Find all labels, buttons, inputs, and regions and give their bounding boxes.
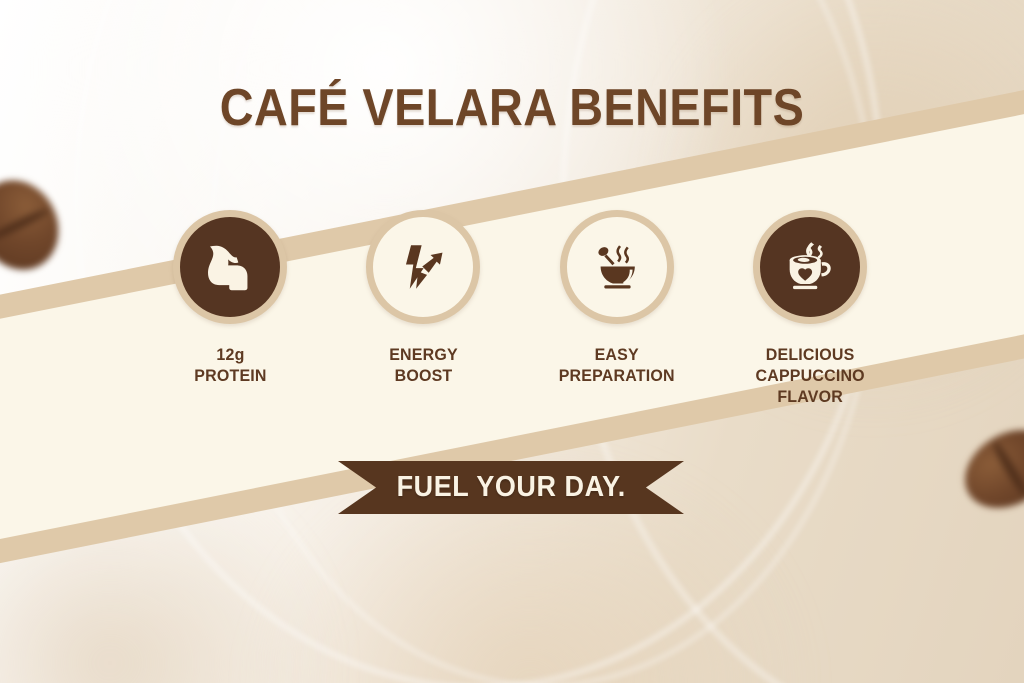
benefit-item-energy[interactable]: ENERGY BOOST: [343, 210, 503, 386]
cappuccino-heart-cup-icon: [779, 236, 841, 298]
benefit-label: 12g PROTEIN: [194, 344, 266, 386]
benefit-icon-badge: [753, 210, 867, 324]
benefit-item-flavor[interactable]: DELICIOUS CAPPUCCINO FLAVOR: [730, 210, 890, 407]
steaming-cup-spoon-icon: [587, 237, 647, 297]
benefit-label: ENERGY BOOST: [389, 344, 458, 386]
benefit-item-preparation[interactable]: EASY PREPARATION: [537, 210, 697, 386]
benefit-item-protein[interactable]: 12g PROTEIN: [150, 210, 310, 386]
benefit-icon-badge: [366, 210, 480, 324]
tagline-ribbon: FUEL YOUR DAY.: [338, 461, 684, 514]
page-title: CAFÉ VELARA BENEFITS: [51, 78, 973, 138]
benefit-label: EASY PREPARATION: [559, 344, 675, 386]
benefit-icon-badge: [173, 210, 287, 324]
flexed-bicep-icon: [199, 236, 261, 298]
poster-canvas: CAFÉ VELARA BENEFITS 12g PROTEIN: [0, 0, 1024, 683]
benefit-icon-badge: [560, 210, 674, 324]
tagline-text: FUEL YOUR DAY.: [396, 471, 625, 504]
lightning-bolt-arrow-icon: [394, 238, 452, 296]
benefits-row: 12g PROTEIN ENERGY BOOST: [150, 210, 890, 407]
benefit-label: DELICIOUS CAPPUCCINO FLAVOR: [755, 344, 864, 407]
